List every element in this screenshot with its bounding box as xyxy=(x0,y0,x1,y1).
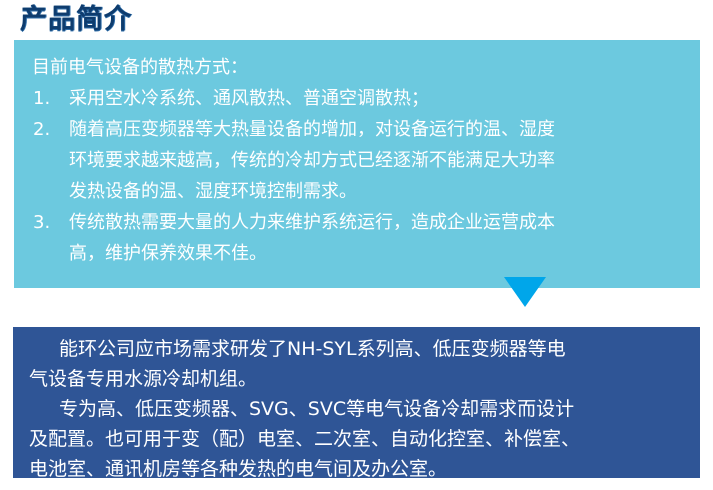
list-item-number: 2. xyxy=(33,114,63,145)
blue-panel-content: 能环公司应市场需求研发了NH-SYL系列高、低压变频器等电 气设备专用水源冷却机… xyxy=(29,334,692,484)
list-item-line: 随着高压变频器等大热量设备的增加，对设备运行的温、湿度 xyxy=(69,114,690,145)
application-paragraph-line: 电池室、通讯机房等各种发热的电气间及办公室。 xyxy=(29,454,692,484)
list-item-line: 发热设备的温、湿度环境控制需求。 xyxy=(69,176,690,207)
list-item: 3. 传统散热需要大量的人力来维护系统运行，造成企业运营成本 高，维护保养效果不… xyxy=(32,207,690,269)
list-item-line: 高，维护保养效果不佳。 xyxy=(69,238,690,269)
paragraph-line: 电池室、通讯机房等各种发热的电气间及办公室。 xyxy=(29,458,447,480)
paragraph-line: 气设备专用水源冷却机组。 xyxy=(29,368,257,390)
page-title: 产品简介 xyxy=(20,2,132,38)
paragraph-line: 及配置。也可用于变（配）电室、二次室、自动化控室、补偿室、 xyxy=(29,428,580,450)
slide-root: 产品简介 目前电气设备的散热方式： 1. 采用空水冷系统、通风散热、普通空调散热… xyxy=(0,0,713,490)
list-item-number: 1. xyxy=(33,83,63,114)
application-paragraph: 专为高、低压变频器、SVG、SVC等电气设备冷却需求而设计 xyxy=(29,394,692,424)
teal-panel-heading: 目前电气设备的散热方式： xyxy=(32,52,690,83)
list-item-number: 3. xyxy=(33,207,63,238)
current-cooling-methods-panel: 目前电气设备的散热方式： 1. 采用空水冷系统、通风散热、普通空调散热； 2. … xyxy=(14,40,700,288)
cooling-methods-list: 1. 采用空水冷系统、通风散热、普通空调散热； 2. 随着高压变频器等大热量设备… xyxy=(32,83,690,269)
solution-paragraph: 能环公司应市场需求研发了NH-SYL系列高、低压变频器等电 xyxy=(29,334,692,364)
down-arrow-icon xyxy=(504,277,546,307)
solution-paragraph-line: 气设备专用水源冷却机组。 xyxy=(29,364,692,394)
product-solution-panel: 能环公司应市场需求研发了NH-SYL系列高、低压变频器等电 气设备专用水源冷却机… xyxy=(13,327,700,478)
teal-panel-content: 目前电气设备的散热方式： 1. 采用空水冷系统、通风散热、普通空调散热； 2. … xyxy=(32,52,690,269)
list-item: 2. 随着高压变频器等大热量设备的增加，对设备运行的温、湿度 环境要求越来越高，… xyxy=(32,114,690,207)
application-paragraph-line: 及配置。也可用于变（配）电室、二次室、自动化控室、补偿室、 xyxy=(29,424,692,454)
list-item: 1. 采用空水冷系统、通风散热、普通空调散热； xyxy=(32,83,690,114)
list-item-line: 采用空水冷系统、通风散热、普通空调散热； xyxy=(69,83,690,114)
paragraph-line: 专为高、低压变频器、SVG、SVC等电气设备冷却需求而设计 xyxy=(59,398,574,420)
list-item-line: 传统散热需要大量的人力来维护系统运行，造成企业运营成本 xyxy=(69,207,690,238)
paragraph-line: 能环公司应市场需求研发了NH-SYL系列高、低压变频器等电 xyxy=(59,338,566,360)
list-item-line: 环境要求越来越高，传统的冷却方式已经逐渐不能满足大功率 xyxy=(69,145,690,176)
